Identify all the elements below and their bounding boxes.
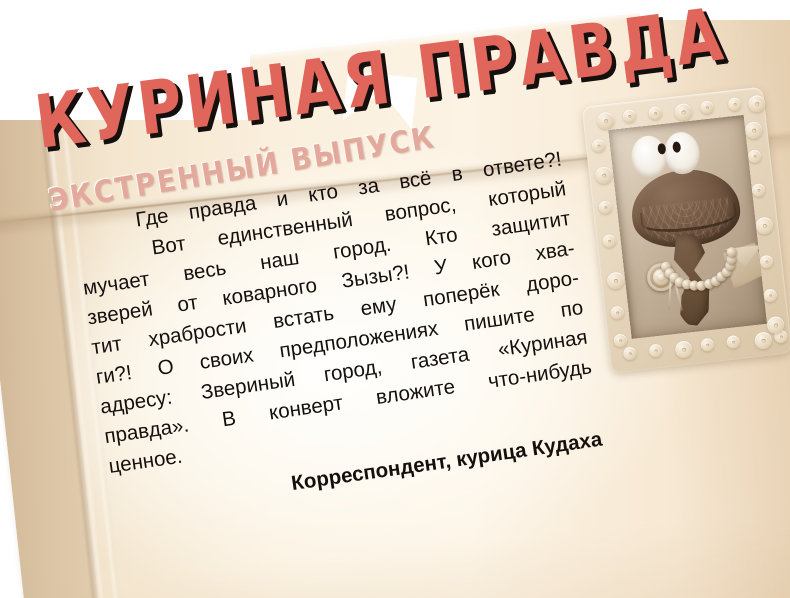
article-word: за	[356, 171, 381, 204]
poster-canvas: КУРИНАЯ ПРАВДА ЭКСТРЕННЫЙ ВЫПУСК Гдеправ…	[0, 0, 790, 598]
portrait-frame	[582, 87, 790, 374]
frame-bump-dot	[597, 144, 601, 148]
frame-bump-dot	[705, 106, 709, 110]
frame-bump-dot	[681, 110, 686, 115]
frame-bump-dot	[613, 278, 618, 283]
frame-bump-dot	[601, 173, 606, 178]
article-word: О	[156, 352, 176, 384]
article-word: Где	[134, 201, 171, 235]
frame-bump-dot	[733, 103, 737, 107]
frame-bump-dot	[768, 294, 772, 298]
frame-bump-dot	[619, 339, 623, 343]
frame-bump-dot	[653, 111, 657, 115]
portrait-photo	[608, 115, 767, 339]
article-word: тит	[90, 329, 124, 363]
frame-bump-dot	[607, 239, 611, 243]
bead-necklace	[639, 228, 749, 301]
frame-bump-dot	[615, 311, 619, 315]
frame-bump-dot	[681, 347, 686, 352]
article-word: всё	[397, 163, 433, 197]
frame-bump-dot	[628, 352, 632, 356]
frame-bump-dot	[753, 155, 757, 159]
article-word: и	[274, 184, 290, 215]
frame-bump-dot	[706, 343, 710, 347]
frame-bump-dot	[773, 323, 778, 328]
article-word: кого	[470, 243, 513, 278]
article-word: по	[559, 293, 586, 326]
frame-bump-dot	[765, 260, 769, 264]
frame-bump-dot	[628, 114, 632, 118]
article-word: Вот	[150, 229, 188, 264]
article-word: Кто	[423, 220, 459, 254]
article-word: В	[220, 404, 238, 436]
frame-bump-dot	[654, 349, 658, 353]
frame-bump-dot	[731, 340, 735, 344]
frame-bump-dot	[779, 335, 783, 339]
frame-bump-dot	[757, 188, 761, 192]
frame-bump-dot	[762, 223, 767, 228]
article-word: в	[450, 159, 465, 190]
frame-bump-dot	[751, 128, 756, 133]
frame-bump-dot	[604, 206, 608, 210]
article-word: от	[175, 288, 199, 321]
frame-bump-dot	[603, 118, 608, 123]
article-word: кто	[306, 177, 340, 211]
frame-bump-dot	[761, 338, 766, 343]
article-word: У	[432, 252, 449, 284]
frame-bump-dot	[754, 101, 759, 106]
